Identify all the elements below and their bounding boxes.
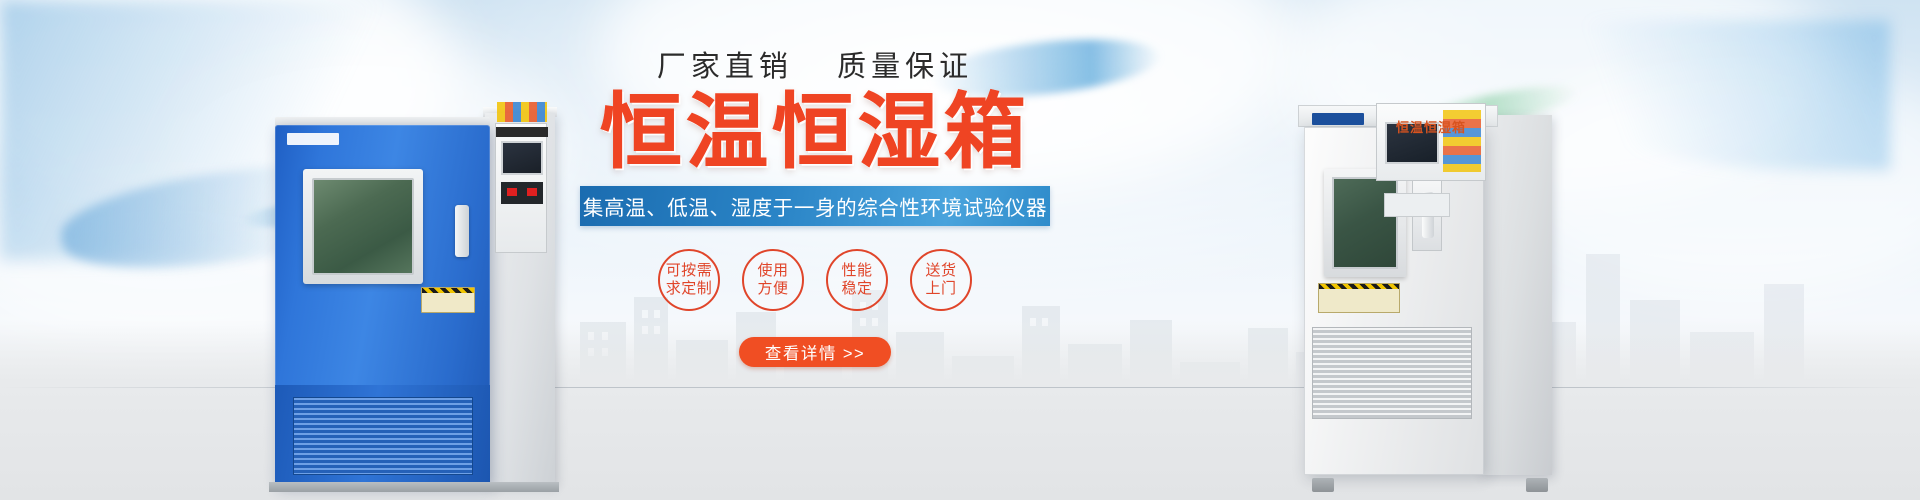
badge-line-1: 送货 bbox=[925, 262, 956, 280]
tagline-part-2: 质量保证 bbox=[837, 51, 973, 83]
led-readout bbox=[501, 182, 543, 204]
view-details-button[interactable]: 查看详情 >> bbox=[739, 337, 891, 367]
right-machine-product-name: 恒温恒湿箱 bbox=[1396, 117, 1480, 133]
left-machine-brand-plate bbox=[287, 133, 339, 145]
feature-badge-list: 可按需 求定制 使用 方便 性能 稳定 送货 上门 bbox=[575, 249, 1055, 311]
tagline-part-1: 厂家直销 bbox=[657, 51, 793, 83]
badge-line-2: 方便 bbox=[757, 280, 788, 298]
badge-line-1: 可按需 bbox=[666, 262, 713, 280]
feature-badge-delivery[interactable]: 送货 上门 bbox=[910, 249, 972, 311]
product-image-right-chamber: 恒温恒湿箱 bbox=[1280, 87, 1570, 492]
badge-line-2: 稳定 bbox=[841, 280, 872, 298]
spec-plate bbox=[1384, 193, 1450, 217]
control-panel-right bbox=[1376, 103, 1486, 181]
safety-stickers bbox=[497, 102, 547, 122]
badge-line-1: 使用 bbox=[757, 262, 788, 280]
headline: 恒温恒湿箱 bbox=[575, 92, 1055, 174]
badge-line-2: 求定制 bbox=[666, 280, 713, 298]
subtitle-bar: 集高温、低温、湿度于一身的综合性环境试验仪器 bbox=[580, 186, 1050, 226]
feature-badge-easy-use[interactable]: 使用 方便 bbox=[742, 249, 804, 311]
door-handle-icon bbox=[455, 205, 469, 257]
warning-label bbox=[421, 287, 475, 313]
vent-grille bbox=[1312, 327, 1472, 419]
badge-line-1: 性能 bbox=[841, 262, 872, 280]
feature-badge-custom[interactable]: 可按需 求定制 bbox=[658, 249, 720, 311]
controller-screen bbox=[501, 141, 543, 175]
product-image-left-chamber bbox=[255, 97, 555, 492]
machine-feet bbox=[1308, 476, 1552, 492]
vent-grille bbox=[293, 397, 473, 475]
tagline: 厂家直销 质量保证 bbox=[575, 52, 1055, 84]
control-panel-left bbox=[495, 123, 547, 253]
right-machine-brand-plate bbox=[1312, 113, 1364, 125]
banner-copy-block: 厂家直销 质量保证 恒温恒湿箱 集高温、低温、湿度于一身的综合性环境试验仪器 可… bbox=[575, 52, 1055, 367]
promo-banner: 恒温恒湿箱 厂家直销 质量保证 恒温恒湿箱 集高温、低温、湿度于一身的综合性环境… bbox=[0, 0, 1920, 500]
feature-badge-stable[interactable]: 性能 稳定 bbox=[826, 249, 888, 311]
warning-label bbox=[1318, 283, 1400, 313]
subtitle-text: 集高温、低温、湿度于一身的综合性环境试验仪器 bbox=[583, 191, 1047, 221]
badge-line-2: 上门 bbox=[925, 280, 956, 298]
